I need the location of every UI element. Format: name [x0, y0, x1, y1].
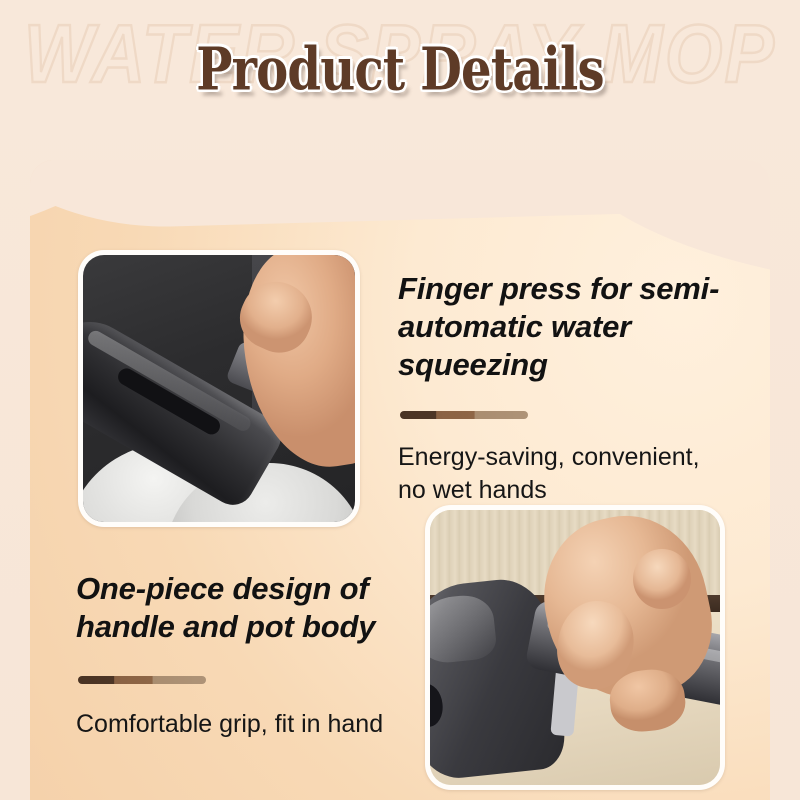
divider-bar [78, 676, 206, 684]
photo-frame-inner [430, 510, 720, 785]
feature-block-one-piece-design: One-piece design of handle and pot body … [76, 570, 416, 740]
mop-handle-trigger-photo [78, 250, 360, 527]
knuckle-shape [633, 549, 691, 610]
divider-bar [400, 411, 528, 419]
feature-subline: Comfortable grip, fit in hand [76, 708, 416, 741]
feature-block-finger-press: Finger press for semi-automatic water sq… [398, 270, 728, 506]
feature-subline: Energy-saving, convenient, no wet hands [398, 441, 728, 506]
product-details-infographic: WATER SPRAY MOP Product Details [0, 0, 800, 800]
pot-opening [430, 682, 445, 727]
pot-highlight [430, 592, 498, 665]
page-title: Product Details [56, 39, 744, 98]
content-panel: Finger press for semi-automatic water sq… [30, 160, 770, 800]
mop-pot-body-grip-photo [425, 505, 725, 790]
photo-frame-inner [83, 255, 355, 522]
feature-headline: Finger press for semi-automatic water sq… [398, 270, 728, 383]
feature-headline: One-piece design of handle and pot body [76, 570, 416, 646]
